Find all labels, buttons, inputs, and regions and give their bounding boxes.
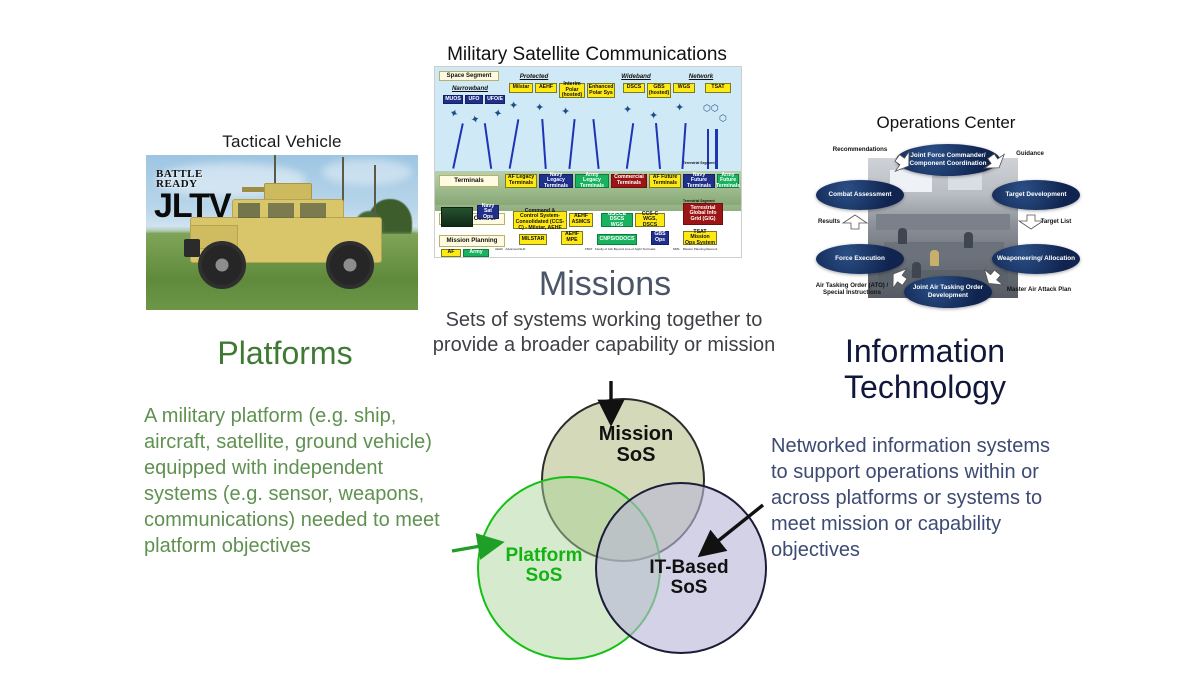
- terminal-navy-future: Navy Future Terminals: [683, 174, 715, 188]
- window-2: [268, 203, 294, 218]
- ops-node-target-development: Target Development: [992, 180, 1080, 210]
- satellite-icon-5: ✦: [535, 103, 544, 114]
- terminal-af-future: AF Future Terminals: [649, 174, 681, 188]
- ops-node-force-execution: Force Execution: [816, 244, 904, 274]
- row-label-space-segment: Space Segment: [439, 71, 499, 81]
- ops-node-joint-force-commander: Joint Force Commander/ Component Coordin…: [896, 144, 1000, 176]
- row-label-terminals: Terminals: [439, 175, 499, 187]
- venn-label-platform-sos: Platform SoS: [479, 546, 609, 586]
- sat-box-dscs: DSCS: [623, 83, 645, 93]
- ops-flow-target-list: Target List: [1030, 218, 1082, 225]
- slide-canvas: Tactical Vehicle BATTLE READY JLTV Platf…: [0, 0, 1200, 683]
- network-mesh-icon-2: ⬡: [719, 113, 727, 124]
- missionplan-aehf-mpe: AEHF MPE: [561, 231, 583, 245]
- ops-flow-recommendations: Recommendations: [826, 146, 894, 153]
- venn-it-line1: IT-Based: [649, 557, 728, 578]
- jltv-overlay: JLTV: [154, 191, 231, 221]
- satellite-icon-8: ✦: [649, 111, 658, 122]
- satcontrol-gscce: GSCCE DSCS WGS: [601, 213, 633, 227]
- ops-flow-ato: Air Tasking Order (ATO) / Special Instru…: [806, 282, 898, 297]
- operator-3: [964, 232, 973, 248]
- platforms-heading: Platforms: [130, 337, 440, 371]
- satcontrol-ccs-c: Command & Control System-Consolidated (C…: [513, 211, 567, 229]
- sos-venn-diagram: Mission SoS Platform SoS IT-Based SoS: [477, 398, 767, 660]
- control-room-thumbnail: [441, 207, 473, 227]
- sat-box-milstar: Milstar: [509, 83, 533, 93]
- satellite-icon-4: ✦: [509, 101, 518, 112]
- cloud-shape-2: [322, 159, 412, 185]
- venn-it-line2: SoS: [671, 577, 708, 598]
- missions-heading: Missions: [420, 267, 790, 303]
- military-satcom-diagram: Space Segment Terminals Satellite Contro…: [434, 66, 742, 258]
- tactical-vehicle-caption: Tactical Vehicle: [146, 132, 418, 152]
- ops-node-joint-air-tasking: Joint Air Tasking Order Development: [904, 276, 992, 308]
- missionplan-milstar: MILSTAR: [519, 234, 547, 245]
- sat-box-ufoe: UFO/E: [485, 95, 505, 104]
- antenna-1: [274, 155, 276, 185]
- beam-11: [715, 129, 718, 169]
- satcontrol-aehf-asmcs: AEHF ASMCS: [569, 213, 593, 227]
- satcontrol-ccs-c-wgs: CCS-C WGS, DSCS: [635, 213, 665, 227]
- operations-center-caption: Operations Center: [806, 113, 1086, 133]
- window-3: [300, 203, 326, 218]
- venn-mission-line2: SoS: [617, 444, 656, 466]
- network-mesh-icon: ⬡⬡: [703, 103, 719, 114]
- front-bumper: [184, 239, 200, 257]
- satellite-icon-3: ✦: [492, 108, 503, 120]
- band-header-wideband: Wideband: [609, 73, 663, 80]
- acronym-column-3: MPE Mission Planning Element: [673, 248, 717, 251]
- terrestrial-segment-note-top: Terrestrial Segment: [683, 161, 715, 165]
- sat-box-ufo: UFO: [465, 95, 483, 104]
- operator-2: [930, 250, 939, 266]
- sat-box-tsat: TSAT: [705, 83, 731, 93]
- operations-center-diagram: Joint Force Commander/ Component Coordin…: [806, 140, 1086, 310]
- terminal-navy-legacy: Navy Legacy Terminals: [539, 174, 573, 188]
- satcontrol-gig: Terrestrial Global Info Grid (GIG): [683, 203, 723, 225]
- acronym-col3-text: MPE Mission Planning Element: [673, 247, 717, 251]
- venn-platform-line2: SoS: [526, 565, 563, 586]
- ops-node-combat-assessment: Combat Assessment: [816, 180, 904, 210]
- venn-label-it-based-sos: IT-Based SoS: [629, 558, 749, 598]
- sat-box-interim-polar: Interim Polar (hosted): [559, 83, 585, 98]
- satellite-icon-6: ✦: [561, 107, 570, 118]
- ops-node-weaponeering: Weaponeering/ Allocation: [992, 244, 1080, 274]
- sat-box-enhanced-polar: Enhanced Polar Sys: [587, 83, 615, 98]
- missionplan-gbs-ops: GBS Ops: [651, 231, 669, 245]
- band-header-protected: Protected: [509, 73, 559, 80]
- satellite-icon-9: ✦: [675, 103, 684, 114]
- ops-flow-master-air-attack: Master Air Attack Plan: [996, 286, 1082, 293]
- satcontrol-navy-sat-ops: Navy Sat Ops: [477, 205, 499, 219]
- ops-flow-results: Results: [812, 218, 846, 225]
- operator-1: [898, 228, 907, 244]
- terminal-af-legacy: AF Legacy Terminals: [505, 174, 537, 188]
- platforms-body-text: A military platform (e.g. ship, aircraft…: [144, 403, 454, 559]
- battle-ready-overlay: BATTLE READY: [156, 169, 203, 189]
- missions-body-text: Sets of systems working together to prov…: [414, 308, 794, 358]
- acronym-col2-text: FBAT Family of Adv Beyond Line-of-Sight …: [585, 247, 655, 251]
- arrow-results: [843, 215, 867, 229]
- missionplan-cnps-odocs: CNPS/ODOCS: [597, 234, 637, 245]
- sat-box-wgs: WGS: [673, 83, 695, 93]
- key-af: AF: [441, 249, 461, 257]
- sat-box-gbs: GBS (hosted): [647, 83, 671, 98]
- tactical-vehicle-image: BATTLE READY JLTV: [146, 155, 418, 310]
- band-header-network: Network: [679, 73, 723, 80]
- missionplan-tsat: TSAT Mission Ops System: [683, 231, 717, 245]
- sat-box-aehf: AEHF: [535, 83, 557, 93]
- acronym-column-2: FBAT Family of Adv Beyond Line-of-Sight …: [585, 248, 655, 251]
- console-row-1: [876, 214, 1010, 230]
- ops-flow-guidance: Guidance: [1004, 150, 1056, 157]
- terminal-army-legacy: Army Legacy Terminals: [575, 174, 609, 188]
- sat-box-muos: MUOS: [443, 95, 463, 104]
- acronym-column-1: AEHF Advanced EHF: [495, 248, 526, 251]
- wheel-front: [198, 241, 246, 289]
- venn-platform-line1: Platform: [505, 545, 582, 566]
- band-header-narrowband: Narrowband: [441, 85, 499, 92]
- row-label-mission-planning: Mission Planning: [439, 235, 505, 247]
- terminal-army-future: Army Future Terminals: [717, 174, 739, 188]
- venn-label-mission-sos: Mission SoS: [581, 424, 691, 466]
- key-army: Army: [463, 249, 489, 257]
- terminal-commercial: Commercial Terminals: [611, 174, 647, 188]
- venn-mission-line1: Mission: [599, 423, 673, 445]
- information-technology-body-text: Networked information systems to support…: [771, 433, 1071, 563]
- satcom-caption: Military Satellite Communications: [434, 44, 740, 66]
- operator-4: [912, 262, 921, 278]
- window-1: [238, 203, 260, 218]
- antenna-3: [374, 165, 376, 223]
- satellite-icon-7: ✦: [623, 105, 632, 116]
- acronym-col1-text: AEHF Advanced EHF: [495, 247, 526, 251]
- wheel-rear: [326, 241, 374, 289]
- information-technology-heading: Information Technology: [780, 334, 1070, 406]
